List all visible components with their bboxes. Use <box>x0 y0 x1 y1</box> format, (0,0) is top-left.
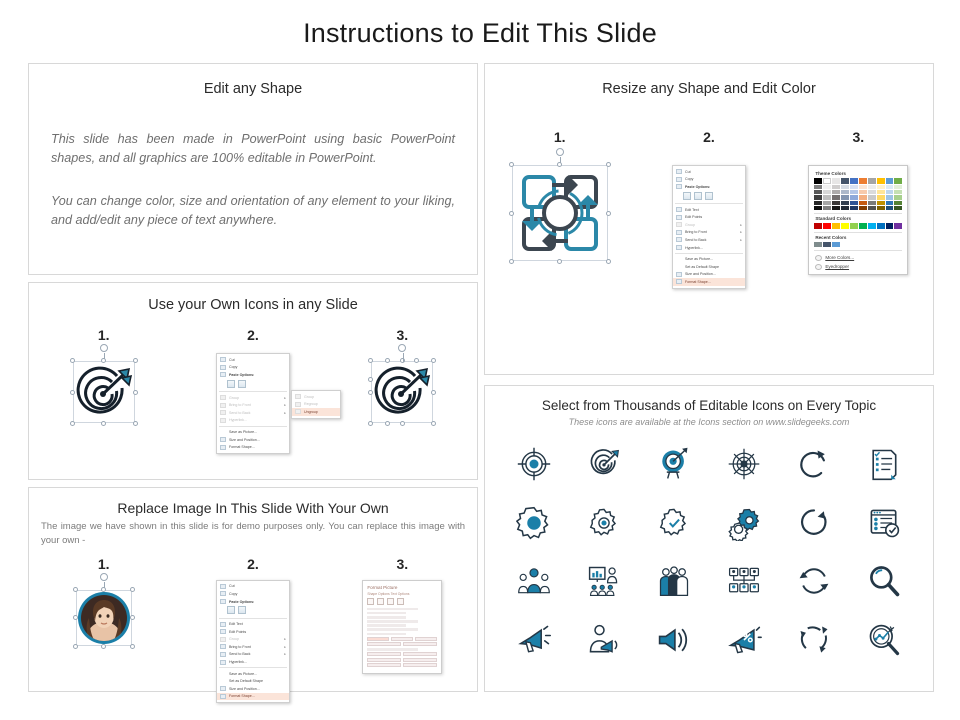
menu-item-cut[interactable]: Cut <box>217 356 289 364</box>
icon-search-analytics[interactable] <box>849 613 919 668</box>
menu-item-hyperlink[interactable]: Hyperlink... <box>217 658 289 666</box>
icon-loudspeaker[interactable] <box>639 613 709 668</box>
menu-item-send-to-back[interactable]: Send to Back▸ <box>217 651 289 659</box>
edit-shape-paragraph-1: This slide has been made in PowerPoint u… <box>51 130 455 168</box>
menu-item-cut[interactable]: Cut <box>217 583 289 591</box>
icons-grid <box>485 427 933 675</box>
replace-image-thumb-context-menu[interactable]: Cut Copy Paste Options: Edit Text Edit P… <box>178 580 327 704</box>
replace-image-step-3: 3. <box>328 556 477 574</box>
paste-options-row[interactable] <box>673 191 745 202</box>
recent-colors-label: Recent Colors <box>815 235 902 240</box>
menu-item-hyperlink[interactable]: Hyperlink... <box>217 417 289 425</box>
menu-item-edit-points[interactable]: Edit Points <box>217 628 289 636</box>
menu-item-size-and-position[interactable]: Size and Position... <box>673 271 745 279</box>
rotation-handle[interactable] <box>100 573 108 581</box>
icon-checklist-document[interactable] <box>849 437 919 492</box>
menu-item-cut[interactable]: Cut <box>673 168 745 176</box>
menu-item-hyperlink[interactable]: Hyperlink... <box>673 244 745 252</box>
color-picker-dropdown[interactable]: Theme Colors <box>808 165 908 275</box>
standard-colors-label: Standard Colors <box>815 216 902 221</box>
eyedropper-option[interactable]: Eyedropper <box>814 262 902 271</box>
menu-item-paste-options[interactable]: Paste Options: <box>217 598 289 606</box>
resize-step-1: 1. <box>485 129 634 147</box>
paste-options-row[interactable] <box>217 379 289 390</box>
panel-icons-library: Select from Thousands of Editable Icons … <box>484 385 934 692</box>
rotation-handle[interactable] <box>556 148 564 156</box>
menu-item-group[interactable]: Group▸ <box>217 636 289 644</box>
menu-item-bring-to-front[interactable]: Bring to Front▸ <box>217 643 289 651</box>
theme-colors-label: Theme Colors <box>815 171 902 176</box>
menu-item-bring-to-front[interactable]: Bring to Front▸ <box>217 401 289 409</box>
format-pane-icon-row[interactable] <box>367 598 437 605</box>
icons-library-subtitle: These icons are available at the Icons s… <box>485 417 933 427</box>
menu-item-send-to-back[interactable]: Send to Back▸ <box>217 409 289 417</box>
format-picture-pane[interactable]: Format Picture Shape Options Text Option… <box>362 580 442 674</box>
powerpoint-context-menu[interactable]: Cut Copy Paste Options: Edit Text Edit P… <box>216 580 290 704</box>
powerpoint-context-menu[interactable]: Cut Copy Paste Options: Edit Text Edit P… <box>672 165 746 289</box>
theme-colors-grid[interactable] <box>814 178 902 184</box>
icon-dartboard-arrow[interactable] <box>569 437 639 492</box>
paste-options-row[interactable] <box>217 605 289 616</box>
submenu-item-regroup[interactable]: Regroup <box>292 400 340 408</box>
menu-item-edit-text[interactable]: Edit Text <box>673 206 745 214</box>
menu-item-group[interactable]: Group▸ Group Regroup Ungroup <box>217 394 289 402</box>
icon-gear-check[interactable] <box>639 496 709 551</box>
menu-item-paste-options[interactable]: Paste Options: <box>673 183 745 191</box>
icon-gears-pair[interactable] <box>709 496 779 551</box>
recent-colors-grid[interactable] <box>814 242 902 248</box>
format-pane-tabs[interactable]: Shape Options Text Options <box>367 592 437 596</box>
icon-crosshair-dot[interactable] <box>709 437 779 492</box>
own-icons-step-3: 3. <box>328 327 477 345</box>
replace-image-step-1: 1. <box>29 556 178 574</box>
replace-image-step-2: 2. <box>178 556 327 574</box>
own-icons-thumb-grouped-target[interactable] <box>29 353 178 423</box>
panel-title-icons-library: Select from Thousands of Editable Icons … <box>485 398 933 413</box>
own-icons-step-2: 2. <box>178 327 327 345</box>
menu-item-format-shape[interactable]: Format Shape... <box>217 693 289 701</box>
icon-megaphone-percent[interactable] <box>709 613 779 668</box>
menu-item-paste-options[interactable]: Paste Options: <box>217 371 289 379</box>
panel-replace-image: Replace Image In This Slide With Your Ow… <box>28 487 478 692</box>
submenu-item-group[interactable]: Group <box>292 393 340 401</box>
resize-step-2: 2. <box>634 129 783 147</box>
menu-item-bring-to-front[interactable]: Bring to Front▸ <box>673 229 745 237</box>
icon-recycle-arrows[interactable] <box>779 554 849 609</box>
replace-image-thumb-format-pane[interactable]: Format Picture Shape Options Text Option… <box>328 580 477 674</box>
menu-item-group[interactable]: Group▸ <box>673 221 745 229</box>
menu-item-save-as-picture[interactable]: Save as Picture... <box>217 428 289 436</box>
menu-item-save-as-picture[interactable]: Save as Picture... <box>217 670 289 678</box>
replace-image-note: The image we have shown in this slide is… <box>41 520 465 548</box>
panel-edit-any-shape: Edit any Shape This slide has been made … <box>28 63 478 275</box>
submenu-item-ungroup[interactable]: Ungroup <box>292 408 340 416</box>
menu-item-copy[interactable]: Copy <box>217 590 289 598</box>
page-title: Instructions to Edit This Slide <box>0 0 960 49</box>
icon-people-three[interactable] <box>639 554 709 609</box>
icon-presentation-audience[interactable] <box>569 554 639 609</box>
menu-item-format-shape[interactable]: Format Shape... <box>217 443 289 451</box>
icon-megaphone[interactable] <box>499 613 569 668</box>
theme-color-shades[interactable] <box>814 185 902 211</box>
more-colors-option[interactable]: More Colors... <box>814 253 902 262</box>
menu-item-copy[interactable]: Copy <box>217 364 289 372</box>
resize-step-3: 3. <box>784 129 933 147</box>
resize-thumb-shape[interactable] <box>485 165 634 261</box>
panel-title-edit-shape: Edit any Shape <box>29 81 477 97</box>
menu-item-save-as-picture[interactable]: Save as Picture... <box>673 255 745 263</box>
panel-title-replace-image: Replace Image In This Slide With Your Ow… <box>29 500 477 516</box>
replace-image-thumb-photo[interactable] <box>29 580 178 646</box>
own-icons-thumb-context-menu[interactable]: Cut Copy Paste Options: Group▸ Group Reg… <box>178 353 327 454</box>
menu-item-edit-points[interactable]: Edit Points <box>673 213 745 221</box>
rotation-handle[interactable] <box>398 344 406 352</box>
edit-shape-paragraph-2: You can change color, size and orientati… <box>51 192 455 230</box>
icon-person-announce[interactable] <box>569 613 639 668</box>
icon-target-crosshair[interactable] <box>499 437 569 492</box>
icon-checklist-approved[interactable] <box>849 496 919 551</box>
own-icons-thumb-ungrouped-target[interactable] <box>328 353 477 423</box>
icon-gear-outline[interactable] <box>569 496 639 551</box>
standard-colors-grid[interactable] <box>814 223 902 229</box>
panel-resize-shape-edit-color: Resize any Shape and Edit Color 1. 2. 3. <box>484 63 934 375</box>
icon-refresh-arrow[interactable] <box>779 437 849 492</box>
menu-item-format-shape[interactable]: Format Shape... <box>673 278 745 286</box>
menu-item-size-and-position[interactable]: Size and Position... <box>217 685 289 693</box>
resize-thumb-context-menu[interactable]: Cut Copy Paste Options: Edit Text Edit P… <box>634 165 783 289</box>
panel-use-own-icons: Use your Own Icons in any Slide 1. 2. 3. <box>28 282 478 480</box>
powerpoint-context-menu[interactable]: Cut Copy Paste Options: Group▸ Group Reg… <box>216 353 290 454</box>
menu-item-size-and-position[interactable]: Size and Position... <box>217 436 289 444</box>
slide-canvas: Instructions to Edit This Slide Edit any… <box>0 0 960 720</box>
rotation-handle[interactable] <box>100 344 108 352</box>
group-submenu[interactable]: Group Regroup Ungroup <box>291 390 341 419</box>
menu-item-set-as-default-shape[interactable]: Set as Default Shape <box>673 263 745 271</box>
menu-item-edit-text[interactable]: Edit Text <box>217 620 289 628</box>
panel-title-resize-shape: Resize any Shape and Edit Color <box>485 81 933 97</box>
own-icons-step-1: 1. <box>29 327 178 345</box>
menu-item-set-as-default-shape[interactable]: Set as Default Shape <box>217 677 289 685</box>
panel-title-own-icons: Use your Own Icons in any Slide <box>29 297 477 313</box>
icon-org-chart[interactable] <box>709 554 779 609</box>
format-pane-title: Format Picture <box>367 585 437 590</box>
resize-thumb-color-picker[interactable]: Theme Colors <box>784 165 933 275</box>
icon-target-stand[interactable] <box>639 437 709 492</box>
icon-reload-circle[interactable] <box>779 496 849 551</box>
menu-item-send-to-back[interactable]: Send to Back▸ <box>673 236 745 244</box>
icon-gear-solid[interactable] <box>499 496 569 551</box>
menu-item-copy[interactable]: Copy <box>673 176 745 184</box>
icon-magnifier[interactable] <box>849 554 919 609</box>
icon-team-group[interactable] <box>499 554 569 609</box>
icon-cycle-arrows[interactable] <box>779 613 849 668</box>
